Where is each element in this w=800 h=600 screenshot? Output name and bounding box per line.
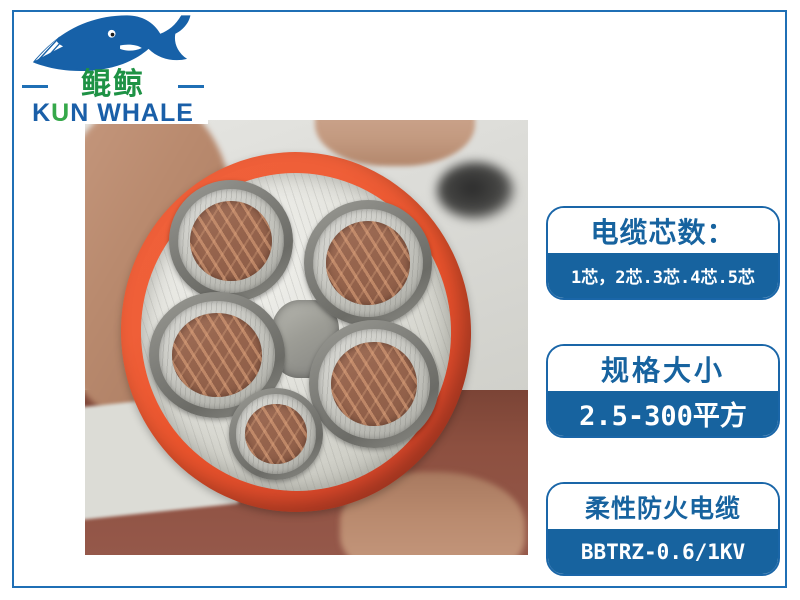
brand-chinese-name: 鲲鲸: [18, 68, 208, 102]
core-copper-4: [331, 342, 417, 426]
core-copper-2: [326, 221, 410, 304]
spec-badge-value: 1芯，2芯.3芯.4芯.5芯: [571, 263, 755, 288]
core-copper-5: [245, 404, 307, 465]
spec-badge-title: 规格大小: [601, 349, 725, 389]
spec-badge-value-row: 1芯，2芯.3芯.4芯.5芯: [548, 253, 778, 298]
brand-english-part2: N WHALE: [70, 99, 194, 127]
cable-cross-section-photo: [85, 120, 528, 555]
spec-badge-value: BBTRZ-0.6/1KV: [581, 540, 745, 564]
cable-specimen: [121, 152, 471, 512]
conductor-core-1: [169, 180, 293, 302]
conductor-core-4: [309, 320, 439, 448]
spec-badge-title-row: 电缆芯数：: [548, 208, 778, 253]
spec-badge-title-row: 规格大小: [548, 346, 778, 391]
spec-badge-value-row: 2.5-300平方: [548, 391, 778, 436]
brand-english-accent: U: [51, 99, 70, 127]
core-copper-3: [172, 313, 262, 396]
poster-canvas: 鲲鲸 KUN WHALE 电缆芯数： 1芯，2芯.3芯.4芯.5芯 规格大小 2…: [0, 0, 800, 600]
conductor-core-2: [304, 200, 432, 326]
brand-english-part1: K: [32, 99, 51, 127]
spec-badge-title: 柔性防火电缆: [585, 489, 741, 525]
brand-chinese-name-row: 鲲鲸: [18, 68, 208, 102]
brand-english-name: KUN WHALE: [18, 100, 208, 126]
core-copper-1: [190, 201, 272, 282]
spec-badge-title-row: 柔性防火电缆: [548, 484, 778, 529]
brand-logo: 鲲鲸 KUN WHALE: [18, 12, 208, 124]
spec-badge-value: 2.5-300平方: [579, 394, 747, 433]
spec-badge-cable-core-count[interactable]: 电缆芯数： 1芯，2芯.3芯.4芯.5芯: [546, 206, 780, 300]
conductor-core-5: [229, 388, 323, 480]
spec-badge-title: 电缆芯数：: [590, 211, 735, 251]
spec-badge-value-row: BBTRZ-0.6/1KV: [548, 529, 778, 574]
spec-badge-cable-size-spec[interactable]: 规格大小 2.5-300平方: [546, 344, 780, 438]
spec-badge-cable-model[interactable]: 柔性防火电缆 BBTRZ-0.6/1KV: [546, 482, 780, 576]
whale-icon: [26, 12, 194, 74]
